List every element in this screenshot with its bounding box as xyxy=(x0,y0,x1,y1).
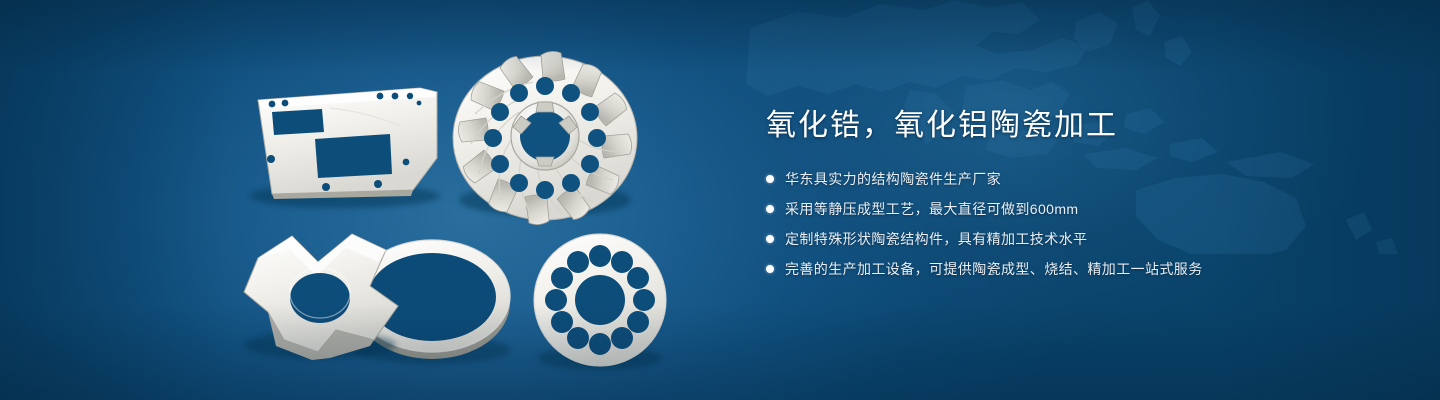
bullet-dot-icon xyxy=(766,205,774,213)
feature-text: 采用等静压成型工艺，最大直径可做到600mm xyxy=(785,198,1078,220)
feature-text: 定制特殊形状陶瓷结构件，具有精加工技术水平 xyxy=(785,228,1087,250)
bullet-dot-icon xyxy=(766,235,774,243)
bullet-dot-icon xyxy=(766,265,774,273)
feature-item: 定制特殊形状陶瓷结构件，具有精加工技术水平 xyxy=(766,228,1386,250)
feature-item: 华东具实力的结构陶瓷件生产厂家 xyxy=(766,168,1386,190)
feature-text: 华东具实力的结构陶瓷件生产厂家 xyxy=(785,168,1001,190)
feature-list: 华东具实力的结构陶瓷件生产厂家 采用等静压成型工艺，最大直径可做到600mm 定… xyxy=(766,168,1386,280)
banner-copy: 氧化锆，氧化铝陶瓷加工 华东具实力的结构陶瓷件生产厂家 采用等静压成型工艺，最大… xyxy=(766,106,1386,280)
feature-item: 完善的生产加工设备，可提供陶瓷成型、烧结、精加工一站式服务 xyxy=(766,258,1386,280)
banner-headline: 氧化锆，氧化铝陶瓷加工 xyxy=(766,106,1386,146)
promo-banner: 氧化锆，氧化铝陶瓷加工 华东具实力的结构陶瓷件生产厂家 采用等静压成型工艺，最大… xyxy=(0,0,1440,400)
feature-item: 采用等静压成型工艺，最大直径可做到600mm xyxy=(766,198,1386,220)
feature-text: 完善的生产加工设备，可提供陶瓷成型、烧结、精加工一站式服务 xyxy=(785,258,1203,280)
bullet-dot-icon xyxy=(766,175,774,183)
